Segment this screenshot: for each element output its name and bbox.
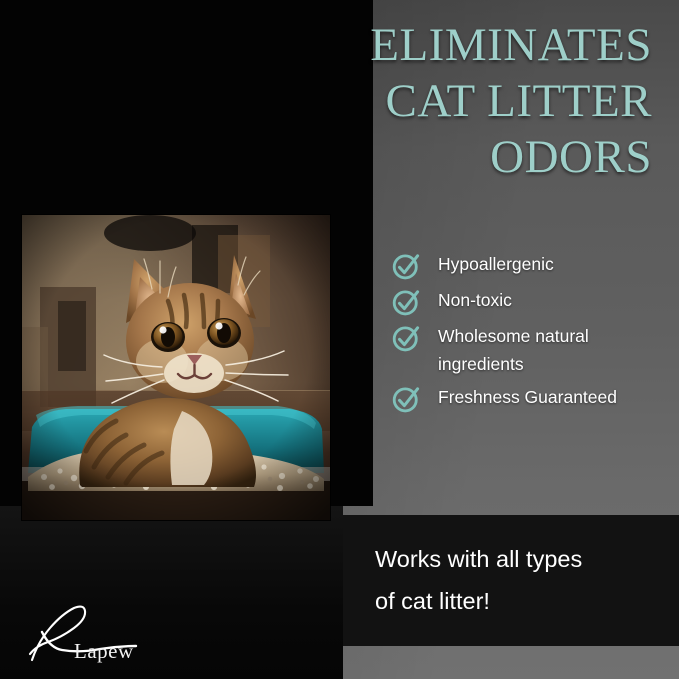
benefit-label: Freshness Guaranteed bbox=[438, 383, 617, 411]
product-photo bbox=[22, 215, 330, 520]
callout-text: Works with all types of cat litter! bbox=[375, 539, 679, 623]
check-circle-icon bbox=[392, 384, 422, 414]
brand-name: Lapew bbox=[74, 639, 134, 664]
check-circle-icon bbox=[392, 251, 422, 281]
benefit-item: Freshness Guaranteed bbox=[392, 383, 664, 415]
benefit-label: Non-toxic bbox=[438, 286, 512, 314]
callout-line-1: Works with all types bbox=[375, 539, 679, 581]
benefit-label: Wholesome natural ingredients bbox=[438, 322, 664, 379]
headline: ELIMINATES CAT LITTER ODORS bbox=[222, 18, 652, 186]
ad-canvas: ELIMINATES CAT LITTER ODORS bbox=[0, 0, 679, 679]
brand-logo: Lapew bbox=[28, 602, 173, 668]
check-circle-icon bbox=[392, 323, 422, 353]
headline-line-2: CAT LITTER bbox=[222, 74, 652, 130]
benefit-label: Hypoallergenic bbox=[438, 250, 554, 278]
headline-line-1: ELIMINATES bbox=[222, 18, 652, 74]
callout-box: Works with all types of cat litter! bbox=[343, 515, 679, 646]
benefits-list: Hypoallergenic Non-toxic Wholesome natur… bbox=[392, 250, 664, 419]
headline-line-3: ODORS bbox=[222, 130, 652, 186]
kitten-photo-illustration bbox=[22, 215, 330, 520]
benefit-item: Hypoallergenic bbox=[392, 250, 664, 282]
callout-line-2: of cat litter! bbox=[375, 581, 679, 623]
check-circle-icon bbox=[392, 287, 422, 317]
benefit-item: Wholesome natural ingredients bbox=[392, 322, 664, 379]
benefit-item: Non-toxic bbox=[392, 286, 664, 318]
